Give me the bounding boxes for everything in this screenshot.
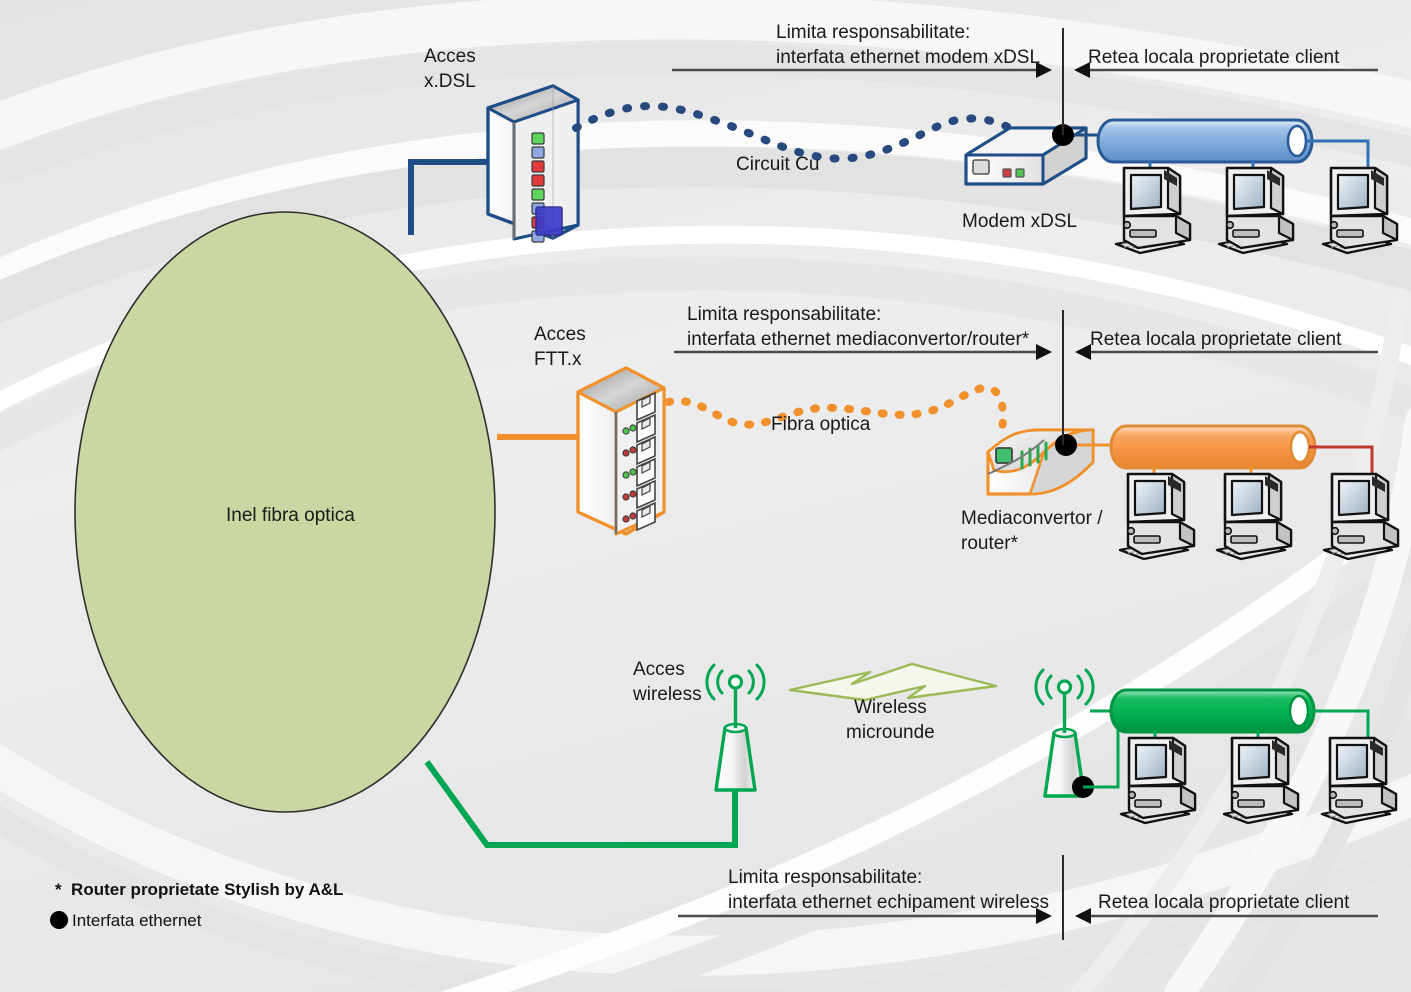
network-bus-icon-xdsl bbox=[1098, 120, 1312, 162]
cpe-label-xdsl: Modem xDSL bbox=[962, 209, 1077, 234]
access-label-xdsl: Acces x.DSL bbox=[424, 44, 476, 94]
client-label-fttx: Retea locala proprietate client bbox=[1090, 327, 1341, 352]
desktop-computer-icon bbox=[1120, 474, 1194, 559]
boundary-arrow-icon bbox=[1036, 344, 1052, 360]
computer-row-xdsl bbox=[1116, 168, 1397, 253]
core-label: Inel fibra optica bbox=[226, 503, 355, 528]
fttx-switch-icon bbox=[578, 368, 664, 534]
desktop-computer-icon bbox=[1121, 738, 1195, 823]
computer-row-wireless bbox=[1121, 738, 1396, 823]
link-label-wireless: Wireless microunde bbox=[846, 695, 935, 745]
access-label-fttx: Acces FTT.x bbox=[534, 322, 586, 372]
access-label-wireless: Acces wireless bbox=[633, 657, 702, 707]
mediaconverter-router-icon bbox=[988, 430, 1093, 494]
client-label-xdsl: Retea locala proprietate client bbox=[1088, 45, 1339, 70]
legend-footnote: * Router proprietate Stylish by A&L bbox=[55, 880, 343, 900]
boundary-arrow-icon bbox=[1075, 908, 1091, 924]
boundary-title-fttx: Limita responsabilitate: bbox=[687, 302, 881, 327]
desktop-computer-icon bbox=[1217, 474, 1291, 559]
wireless-antenna-icon-access bbox=[707, 665, 764, 790]
desktop-computer-icon bbox=[1219, 168, 1293, 253]
computer-row-fttx bbox=[1120, 474, 1398, 559]
boundary-title-xdsl: Limita responsabilitate: bbox=[776, 20, 970, 45]
boundary-arrow-icon bbox=[1075, 344, 1091, 360]
network-bus-icon-wireless bbox=[1111, 690, 1314, 732]
boundary-subtitle-wireless: interfata ethernet echipament wireless bbox=[728, 890, 1049, 915]
boundary-subtitle-xdsl: interfata ethernet modem xDSL bbox=[776, 45, 1040, 70]
dslam-cabinet-icon bbox=[488, 86, 578, 242]
boundary-subtitle-fttx: interfata ethernet mediaconvertor/router… bbox=[687, 327, 1029, 352]
network-topology-diagram: Inel fibra optica Acces x.DSL Circuit Cu… bbox=[0, 0, 1411, 992]
desktop-computer-icon bbox=[1324, 474, 1398, 559]
desktop-computer-icon bbox=[1322, 738, 1396, 823]
desktop-computer-icon bbox=[1224, 738, 1298, 823]
legend-ethernet-dot-icon bbox=[50, 911, 68, 929]
boundary-title-wireless: Limita responsabilitate: bbox=[728, 865, 922, 890]
desktop-computer-icon bbox=[1116, 168, 1190, 253]
legend-ethernet-label: Interfata ethernet bbox=[72, 911, 201, 931]
link-core-to-antenna bbox=[427, 762, 735, 845]
dslam-front-panel bbox=[536, 207, 562, 235]
network-bus-icon-fttx bbox=[1111, 426, 1315, 468]
link-label-xdsl: Circuit Cu bbox=[736, 152, 819, 177]
link-label-fttx: Fibra optica bbox=[771, 412, 870, 437]
cpe-label-fttx: Mediaconvertor / router* bbox=[961, 506, 1103, 556]
client-label-wireless: Retea locala proprietate client bbox=[1098, 890, 1349, 915]
desktop-computer-icon bbox=[1323, 168, 1397, 253]
copper-circuit-link bbox=[576, 106, 1010, 159]
ethernet-interface-dot-icon bbox=[1055, 434, 1077, 456]
